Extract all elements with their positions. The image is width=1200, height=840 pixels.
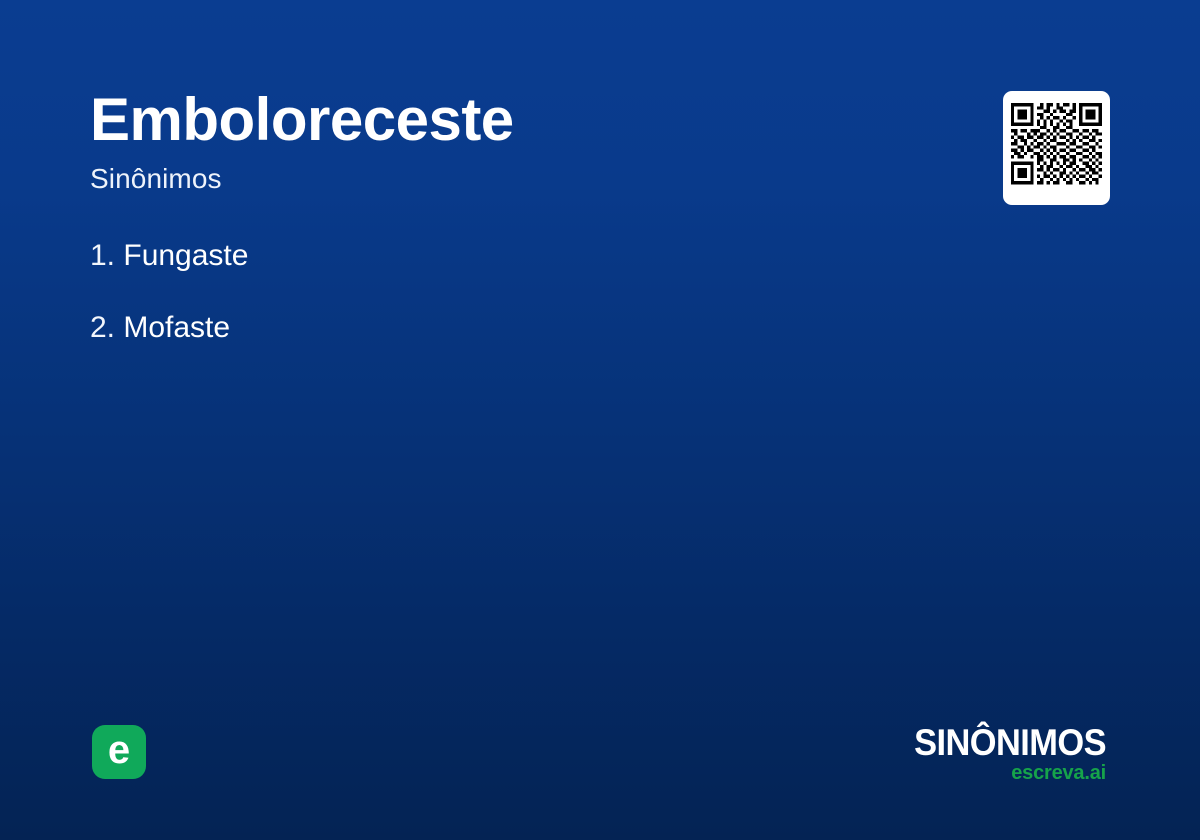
- synonym-word: Mofaste: [115, 311, 230, 344]
- page-title: Emboloreceste: [90, 88, 930, 152]
- synonym-word: Fungaste: [115, 239, 248, 272]
- synonym-item: 2. Mofaste: [90, 310, 930, 346]
- footer-brand-logo: SINÔNIMOS escreva.ai: [878, 724, 1106, 783]
- synonym-index: 1.: [90, 239, 115, 272]
- footer-logo-title: SINÔNIMOS: [894, 724, 1106, 761]
- synonym-index: 2.: [90, 311, 115, 344]
- page-subtitle: Sinônimos: [90, 164, 930, 195]
- synonyms-list: 1. Fungaste2. Mofaste: [90, 238, 930, 346]
- escreva-logo-badge[interactable]: e: [92, 725, 146, 779]
- badge-letter: e: [108, 730, 130, 770]
- synonym-item: 1. Fungaste: [90, 238, 930, 274]
- qr-code-card[interactable]: [1003, 91, 1110, 205]
- headline-block: Emboloreceste Sinônimos: [90, 88, 930, 194]
- qr-code-icon: [1011, 103, 1102, 194]
- synonym-card: Emboloreceste Sinônimos 1. Fungaste2. Mo…: [0, 0, 1200, 840]
- footer-logo-domain: escreva.ai: [878, 763, 1106, 783]
